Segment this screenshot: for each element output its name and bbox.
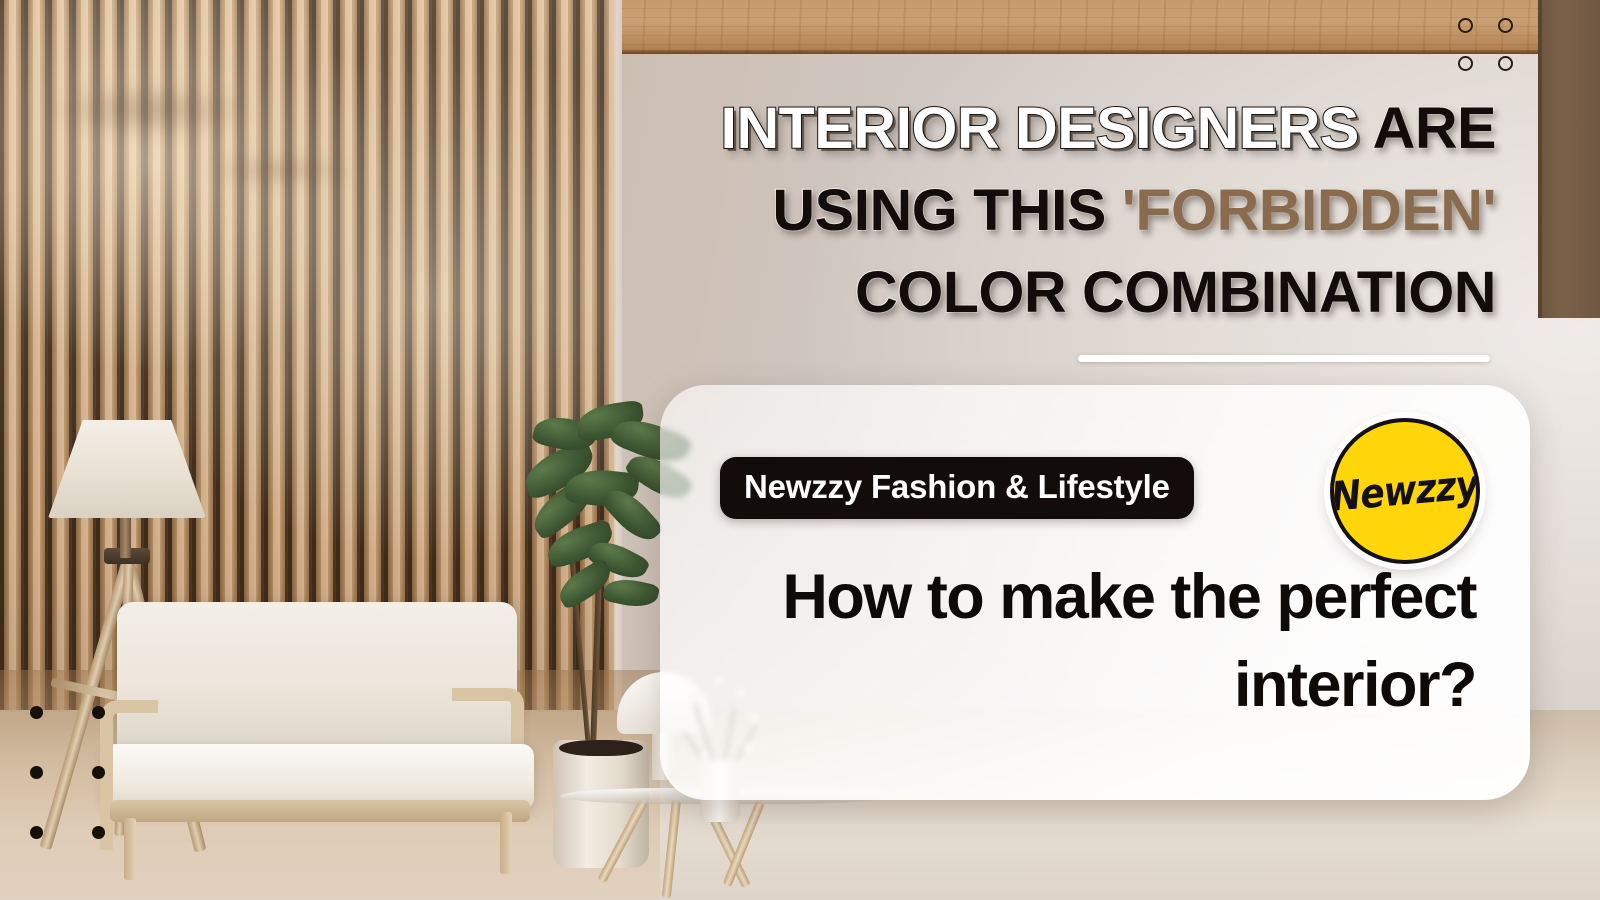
headline: INTERIOR DESIGNERS ARE USING THIS 'FORBI… [633,88,1496,334]
newzzy-logo-badge[interactable]: Newzzy [1330,418,1480,564]
category-pill[interactable]: Newzzy Fashion & Lifestyle [720,457,1194,519]
dot-outline [1498,18,1513,33]
slat-wall-shadow [30,20,410,320]
headline-are-text: ARE [1359,96,1496,161]
dot [30,706,43,719]
headline-forbidden-text: 'FORBIDDEN' [1122,178,1496,243]
sofa-base-rail [110,800,530,822]
dot [92,826,105,839]
poster-canvas: INTERIOR DESIGNERS ARE USING THIS 'FORBI… [0,0,1600,900]
headline-line-3: COLOR COMBINATION [633,252,1496,334]
dot [92,706,105,719]
dot [30,826,43,839]
lamp-neck [120,516,131,558]
headline-white-text: INTERIOR DESIGNERS [721,96,1359,161]
headline-using-this-text: USING THIS [772,178,1121,243]
newzzy-logo-text: Newzzy [1330,462,1480,521]
dot [30,766,43,779]
decor-dots-bottom-left [30,706,154,886]
dot-outline [1458,56,1473,71]
headline-divider [1078,355,1490,362]
decor-dots-top-right [1458,18,1538,94]
sofa-leg [500,812,512,874]
right-wood-column [1538,0,1600,318]
dot [92,766,105,779]
wood-ceiling-band [618,0,1600,54]
plant-pot [553,740,649,868]
dot-outline [1498,56,1513,71]
headline-line-2: USING THIS 'FORBIDDEN' [633,170,1496,252]
dot-outline [1458,18,1473,33]
headline-line-1: INTERIOR DESIGNERS ARE [633,88,1496,170]
headline-color-combination-text: COLOR COMBINATION [855,260,1496,325]
card-title: How to make the perfect interior? [706,553,1476,729]
